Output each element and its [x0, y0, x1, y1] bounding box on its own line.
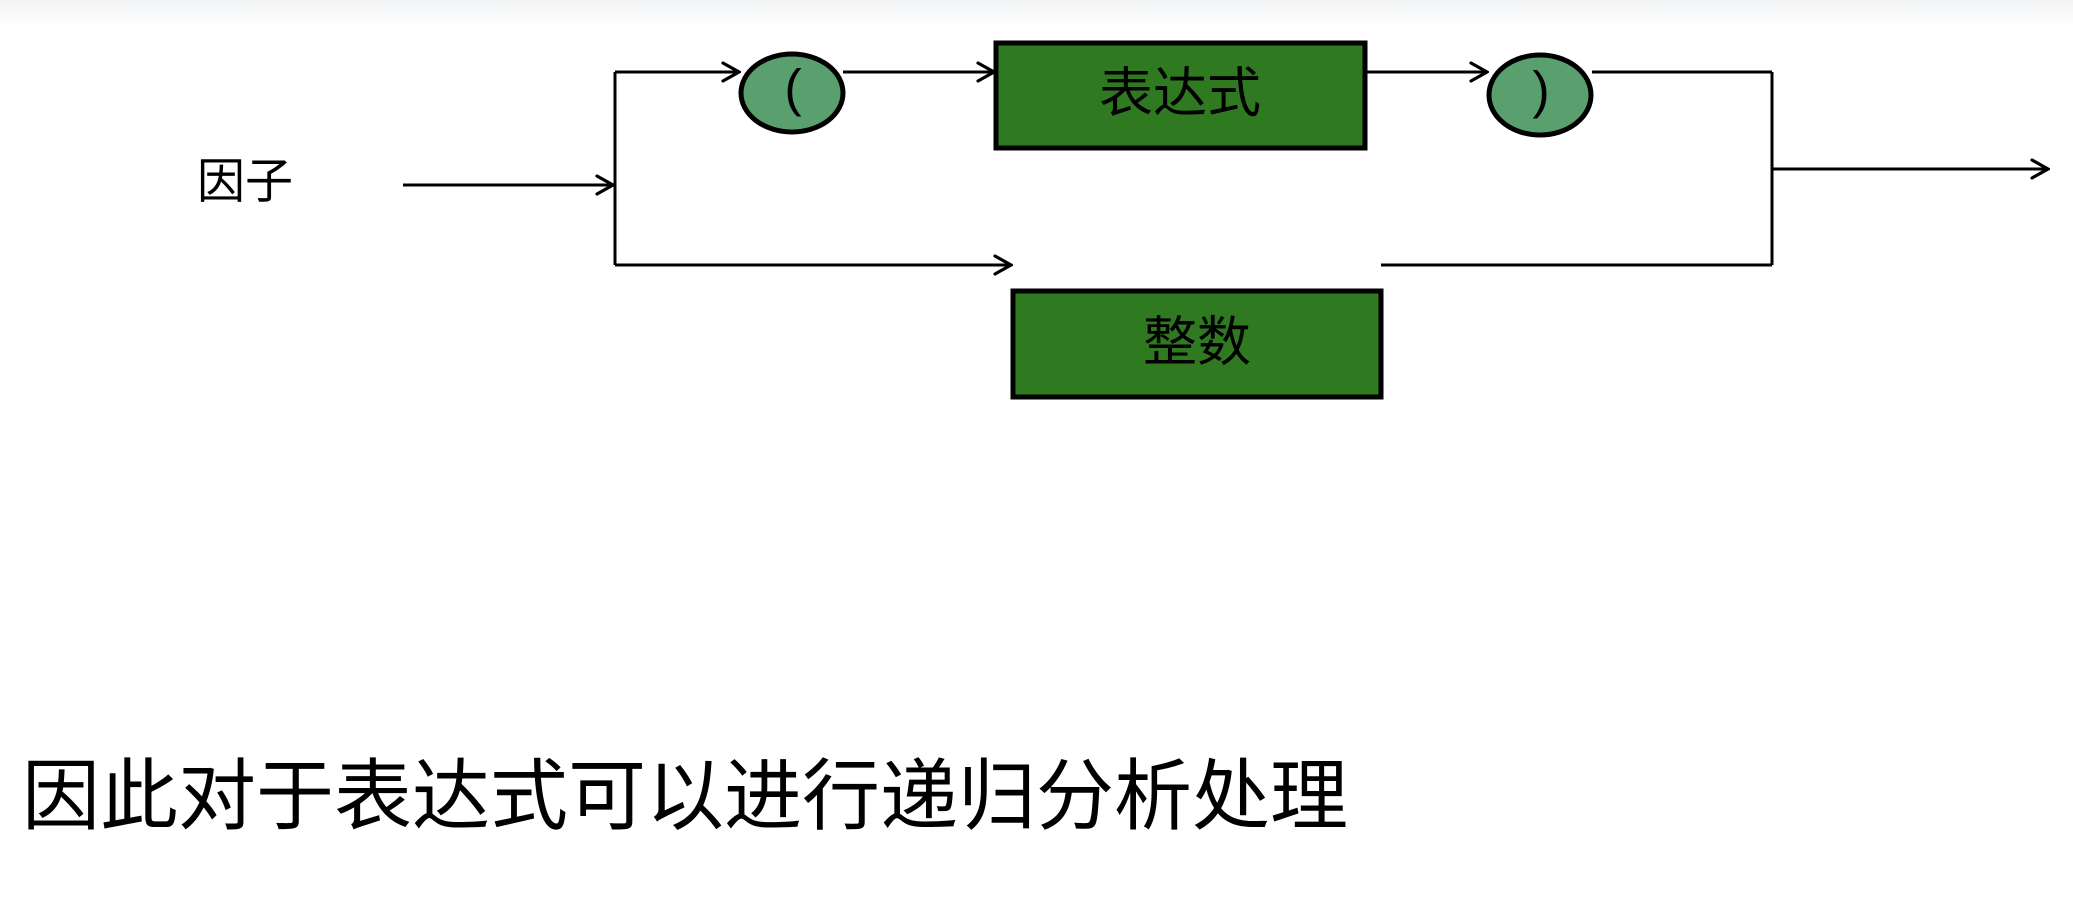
integer-box-label: 整数 — [1143, 312, 1251, 372]
node-close-paren[interactable]: ) — [1489, 55, 1591, 135]
open-paren-label: ( — [784, 60, 802, 118]
slide-canvas: 表达式 整数 ( ) 因子 因此对于表达式可以进行递归分析处理 — [0, 0, 2073, 913]
node-expression[interactable]: 表达式 — [996, 43, 1365, 148]
expression-box-label: 表达式 — [1099, 63, 1261, 123]
slide-caption: 因此对于表达式可以进行递归分析处理 — [22, 757, 1348, 835]
close-paren-label: ) — [1532, 62, 1549, 120]
node-integer[interactable]: 整数 — [1013, 291, 1381, 397]
node-open-paren[interactable]: ( — [741, 54, 843, 132]
source-label-factor: 因子 — [197, 156, 293, 209]
